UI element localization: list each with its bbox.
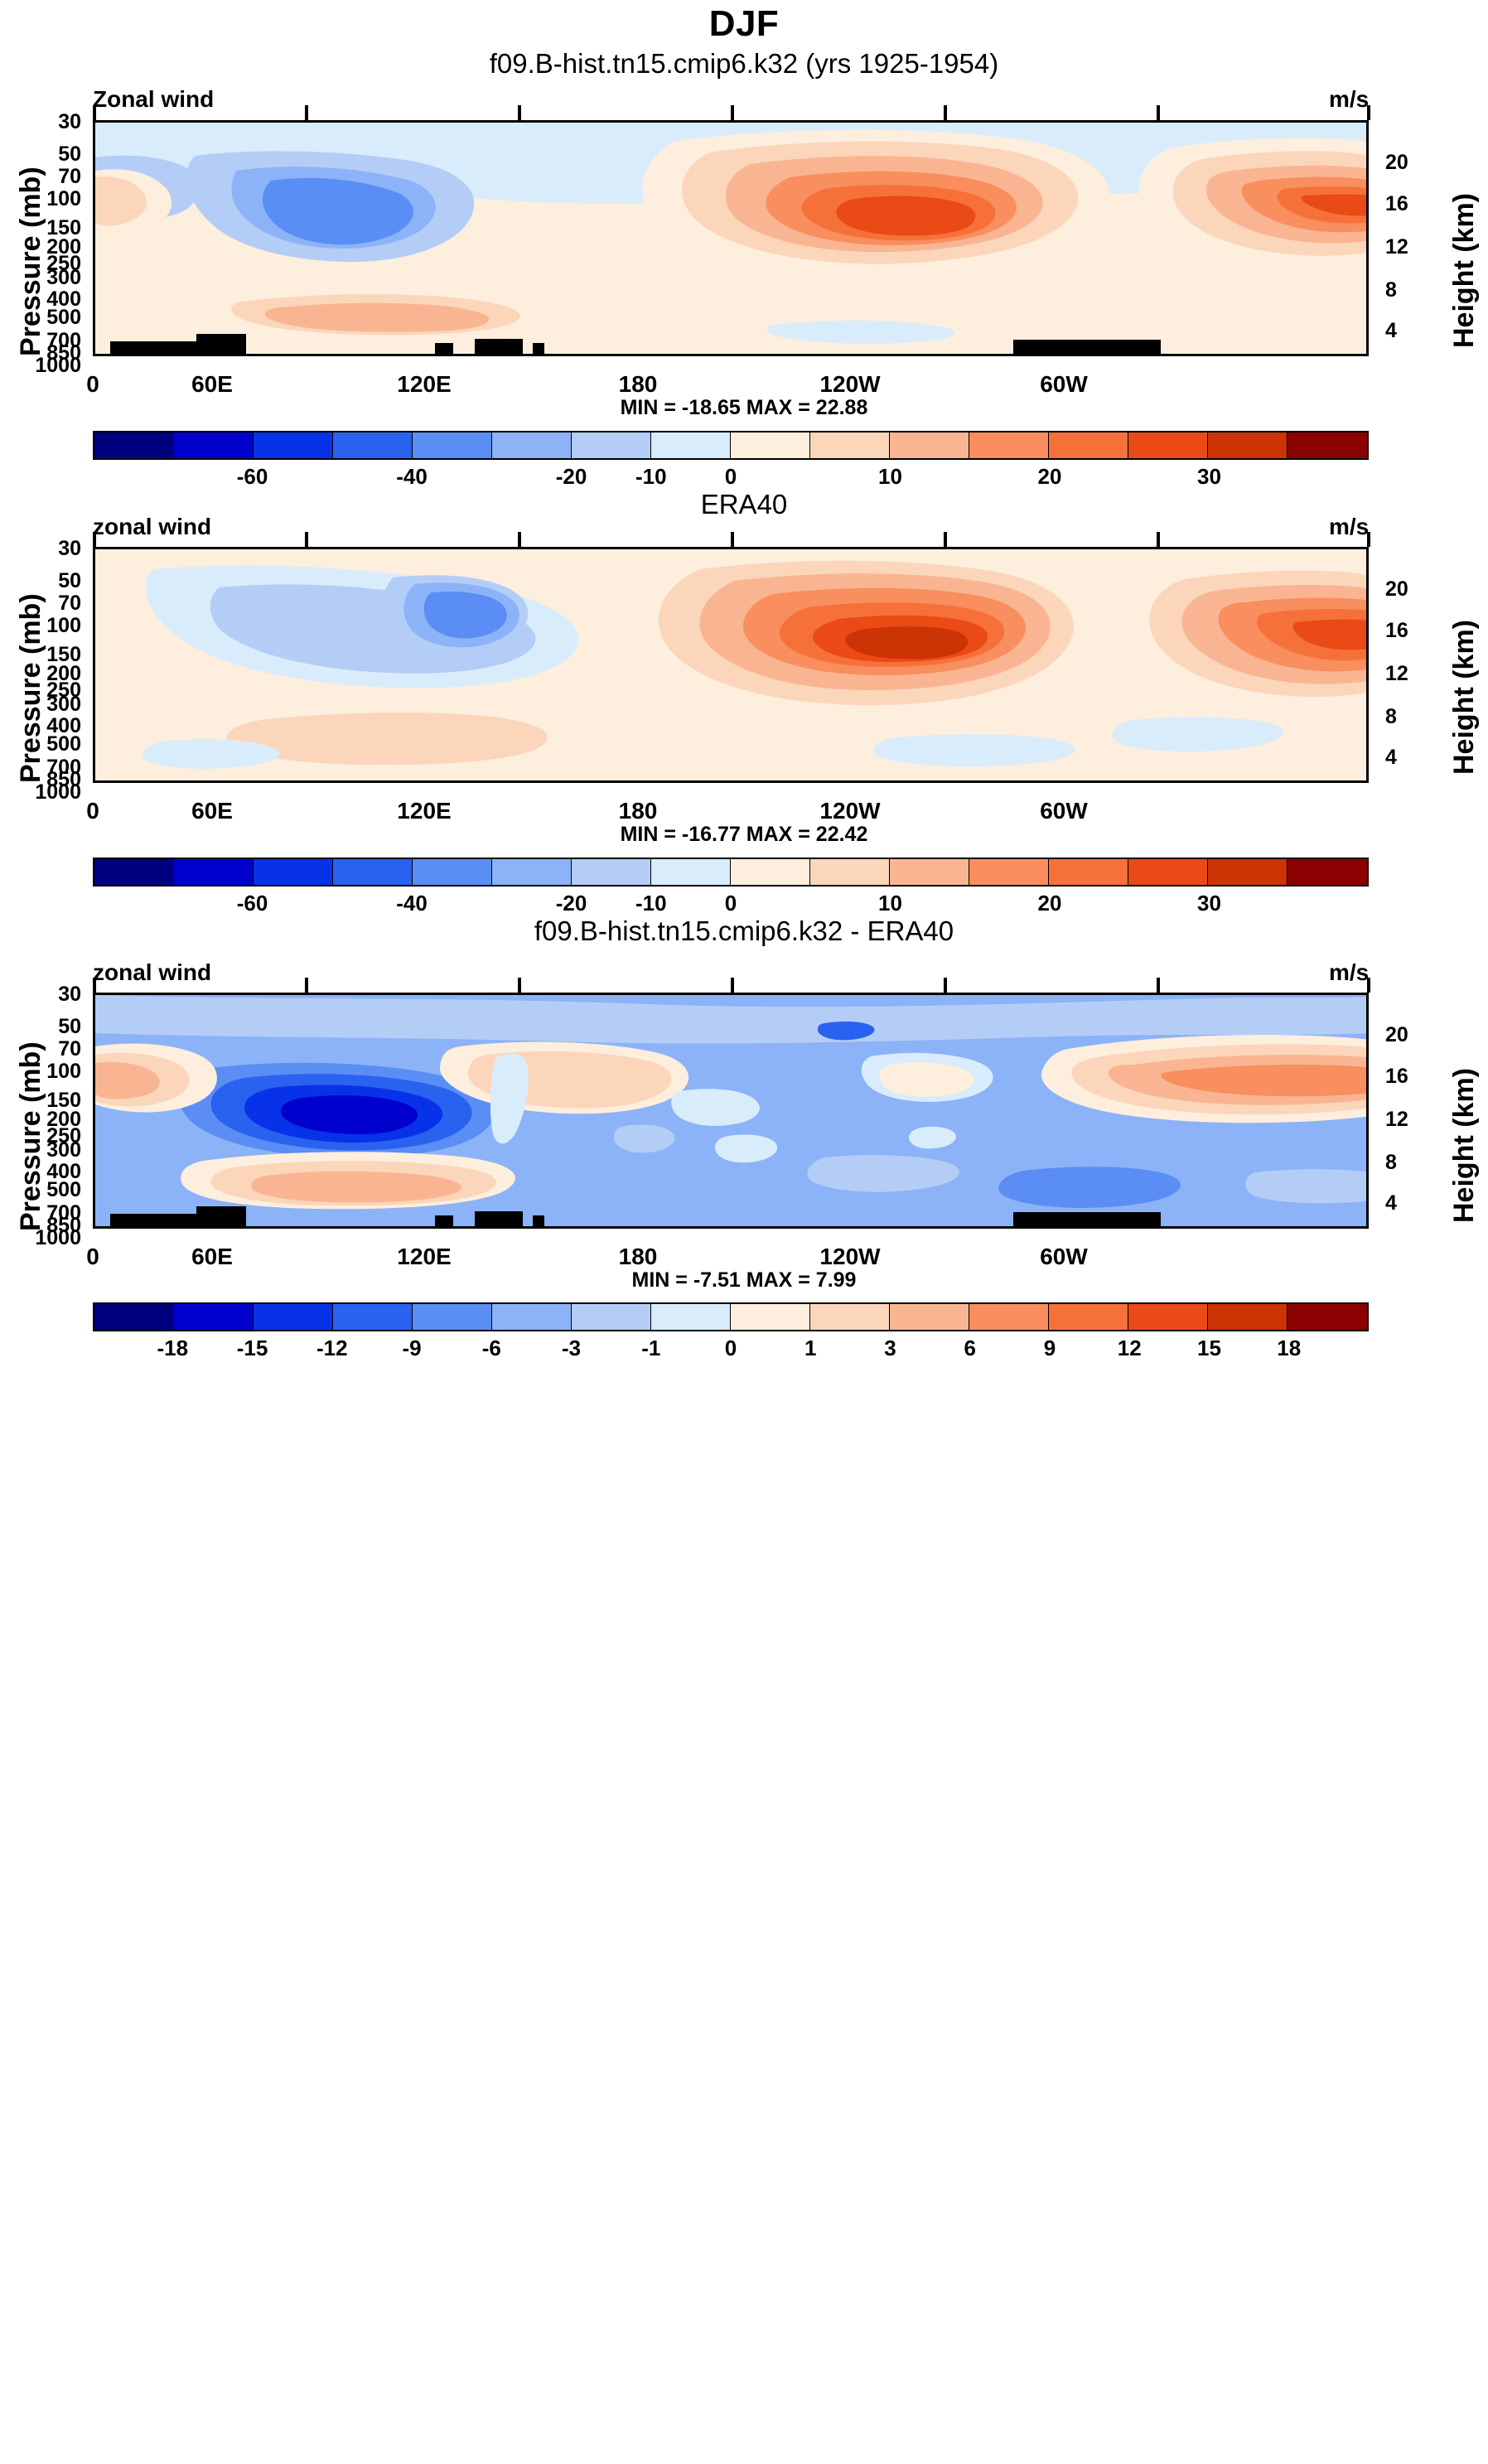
colorbar-tick-label: -10 [610,464,693,490]
pressure-tick-label: 30 [7,110,81,134]
longitude-tick-label: 120W [800,1244,900,1270]
colorbar-swatch [731,859,810,885]
colorbar-swatch [1208,859,1288,885]
colorbar-swatch [1049,859,1128,885]
colorbar-tick-label: -12 [291,1336,374,1361]
colorbar-tick-label: 3 [849,1336,932,1361]
colorbar-tick-label: 10 [849,891,932,916]
height-tick-label: 20 [1385,577,1460,602]
pressure-tick-label: 30 [7,983,81,1007]
pressure-tick-label: 500 [7,732,81,756]
colorbar-swatch [651,859,731,885]
axis-tick [944,532,947,547]
colorbar-tick-label: 18 [1248,1336,1331,1361]
pressure-tick-label: 300 [7,1138,81,1162]
colorbar-swatch [254,432,333,458]
axis-tick [1367,978,1370,993]
colorbar-tick-label: -15 [211,1336,294,1361]
units-label-diff: m/s [1329,959,1369,986]
colorbar-swatch [969,1304,1049,1330]
colorbar-swatch [254,1304,333,1330]
axis-tick [944,978,947,993]
pressure-tick-label: 500 [7,306,81,330]
colorbar-diff [93,1302,1369,1331]
pressure-tick-label: 50 [7,569,81,593]
topography-mask-model [533,343,544,354]
colorbar-swatch [1288,432,1367,458]
colorbar-swatch [254,859,333,885]
colorbar-tick-label: 0 [689,891,772,916]
topography-mask-diff [435,1215,453,1226]
height-tick-label: 8 [1385,705,1460,729]
axis-tick [518,532,521,547]
axis-tick [518,978,521,993]
height-tick-label: 12 [1385,1108,1460,1132]
colorbar-swatch [333,1304,413,1330]
colorbar-swatch [890,432,969,458]
pressure-tick-label: 500 [7,1178,81,1202]
axis-tick [731,532,734,547]
colorbar-tick-label: 30 [1168,891,1251,916]
colorbar-swatch [333,859,413,885]
pressure-tick-label: 100 [7,1060,81,1084]
height-tick-label: 16 [1385,619,1460,643]
colorbar-swatch [1208,432,1288,458]
colorbar-tick-label: -10 [610,891,693,916]
colorbar-swatch [969,859,1049,885]
colorbar-swatch [94,859,174,885]
colorbar-swatch [810,859,890,885]
colorbar-swatch [1288,1304,1367,1330]
figure-root: DJF f09.B-hist.tn15.cmip6.k32 (yrs 1925-… [0,0,1488,2464]
colorbar-swatch [94,432,174,458]
pressure-tick-label: 70 [7,1037,81,1061]
colorbar-swatch [492,859,572,885]
contour-field-model [95,123,1369,356]
axis-tick [1157,532,1160,547]
colorbar-swatch [174,859,254,885]
longitude-tick-label: 60E [162,1244,262,1270]
axis-tick [1157,105,1160,120]
topography-mask-model [435,343,453,354]
colorbar-swatch [572,432,651,458]
height-tick-label: 8 [1385,1151,1460,1175]
height-tick-label: 4 [1385,319,1460,343]
colorbar-swatch [810,1304,890,1330]
colorbar-tick-label: -60 [211,891,294,916]
colorbar-swatch [413,859,492,885]
topography-mask-model [110,341,210,354]
colorbar-swatch [731,1304,810,1330]
colorbar-tick-label: 15 [1168,1336,1251,1361]
units-label-obs: m/s [1329,514,1369,540]
minmax-obs: MIN = -16.77 MAX = 22.42 [0,823,1488,847]
height-tick-label: 12 [1385,235,1460,259]
colorbar-swatch [413,1304,492,1330]
colorbar-tick-label: -3 [530,1336,613,1361]
axis-tick [305,105,308,120]
colorbar-swatch [492,1304,572,1330]
colorbar-tick-label: 20 [1008,891,1091,916]
colorbar-swatch [651,1304,731,1330]
variable-label-model: Zonal wind [93,86,214,113]
colorbar-swatch [1288,859,1367,885]
colorbar-swatch [1049,1304,1128,1330]
axis-tick [1157,978,1160,993]
pressure-tick-label: 30 [7,537,81,561]
pressure-tick-label: 100 [7,614,81,638]
axis-tick [518,105,521,120]
colorbar-swatch [174,1304,254,1330]
axis-tick [1367,105,1370,120]
longitude-tick-label: 120W [800,371,900,398]
colorbar-swatch [94,1304,174,1330]
colorbar-swatch [413,432,492,458]
topography-mask-diff [1013,1212,1161,1226]
longitude-tick-label: 60W [1014,1244,1114,1270]
longitude-tick-label: 180 [588,371,688,398]
longitude-tick-label: 60W [1014,371,1114,398]
colorbar-tick-label: -6 [450,1336,533,1361]
contour-field-obs [95,549,1369,783]
colorbar-swatch [1208,1304,1288,1330]
colorbar-swatch [651,432,731,458]
height-tick-label: 16 [1385,1065,1460,1089]
colorbar-obs [93,858,1369,887]
longitude-tick-label: 0 [43,798,143,824]
topography-mask-diff [475,1211,523,1226]
longitude-tick-label: 180 [588,798,688,824]
pressure-tick-label: 100 [7,187,81,211]
colorbar-swatch [492,432,572,458]
colorbar-tick-label: -20 [530,464,613,490]
colorbar-swatch [969,432,1049,458]
height-tick-label: 4 [1385,746,1460,770]
axis-tick [731,978,734,993]
colorbar-swatch [174,432,254,458]
colorbar-swatch [890,1304,969,1330]
colorbar-tick-label: -1 [610,1336,693,1361]
colorbar-tick-label: 0 [689,1336,772,1361]
colorbar-tick-label: -40 [370,891,453,916]
longitude-tick-label: 120E [374,798,474,824]
longitude-tick-label: 0 [43,371,143,398]
colorbar-swatch [333,432,413,458]
pressure-tick-label: 70 [7,592,81,616]
colorbar-swatch [572,859,651,885]
axis-tick [93,978,96,993]
colorbar-swatch [810,432,890,458]
panel-title-model: f09.B-hist.tn15.cmip6.k32 (yrs 1925-1954… [0,48,1488,80]
topography-mask-model [196,334,246,354]
topography-mask-diff [196,1206,246,1226]
axis-tick [305,978,308,993]
axis-tick [305,532,308,547]
pressure-tick-label: 70 [7,165,81,189]
height-tick-label: 20 [1385,151,1460,175]
height-tick-label: 4 [1385,1191,1460,1215]
minmax-diff: MIN = -7.51 MAX = 7.99 [0,1268,1488,1292]
colorbar-swatch [1049,432,1128,458]
topography-mask-model [475,339,523,354]
height-tick-label: 8 [1385,278,1460,302]
topography-mask-diff [110,1214,210,1226]
variable-label-obs: zonal wind [93,514,211,540]
plot-area-diff [93,993,1369,1229]
height-tick-label: 20 [1385,1023,1460,1047]
contour-field-diff [95,995,1369,1229]
colorbar-swatch [731,432,810,458]
axis-tick [944,105,947,120]
longitude-tick-label: 120E [374,371,474,398]
colorbar-tick-label: 1 [769,1336,852,1361]
units-label-model: m/s [1329,86,1369,113]
longitude-tick-label: 120E [374,1244,474,1270]
colorbar-swatch [572,1304,651,1330]
colorbar-tick-label: 20 [1008,464,1091,490]
topography-mask-diff [533,1215,544,1226]
plot-area-obs [93,547,1369,783]
longitude-tick-label: 60W [1014,798,1114,824]
colorbar-swatch [1128,432,1208,458]
pressure-tick-label: 50 [7,1015,81,1039]
plot-area-model [93,120,1369,356]
longitude-tick-label: 180 [588,1244,688,1270]
axis-tick [731,105,734,120]
longitude-tick-label: 60E [162,798,262,824]
colorbar-model [93,431,1369,460]
axis-tick [93,105,96,120]
pressure-tick-label: 300 [7,266,81,290]
colorbar-tick-label: -60 [211,464,294,490]
panel-title-diff: f09.B-hist.tn15.cmip6.k32 - ERA40 [0,916,1488,947]
colorbar-tick-label: 0 [689,464,772,490]
longitude-tick-label: 60E [162,371,262,398]
axis-tick [1367,532,1370,547]
pressure-tick-label: 300 [7,693,81,717]
colorbar-tick-label: 10 [849,464,932,490]
colorbar-swatch [890,859,969,885]
colorbar-tick-label: 6 [929,1336,1012,1361]
topography-mask-model [1013,340,1161,354]
height-tick-label: 12 [1385,662,1460,686]
panel-title-obs: ERA40 [0,489,1488,520]
colorbar-swatch [1128,859,1208,885]
pressure-tick-label: 50 [7,143,81,167]
variable-label-diff: zonal wind [93,959,211,986]
colorbar-tick-label: -9 [370,1336,453,1361]
height-tick-label: 16 [1385,192,1460,216]
colorbar-tick-label: 12 [1088,1336,1171,1361]
axis-tick [93,532,96,547]
longitude-tick-label: 120W [800,798,900,824]
season-title: DJF [0,3,1488,45]
colorbar-swatch [1128,1304,1208,1330]
longitude-tick-label: 0 [43,1244,143,1270]
colorbar-tick-label: -40 [370,464,453,490]
colorbar-tick-label: -18 [131,1336,214,1361]
colorbar-tick-label: -20 [530,891,613,916]
colorbar-tick-label: 9 [1008,1336,1091,1361]
minmax-model: MIN = -18.65 MAX = 22.88 [0,396,1488,420]
colorbar-tick-label: 30 [1168,464,1251,490]
